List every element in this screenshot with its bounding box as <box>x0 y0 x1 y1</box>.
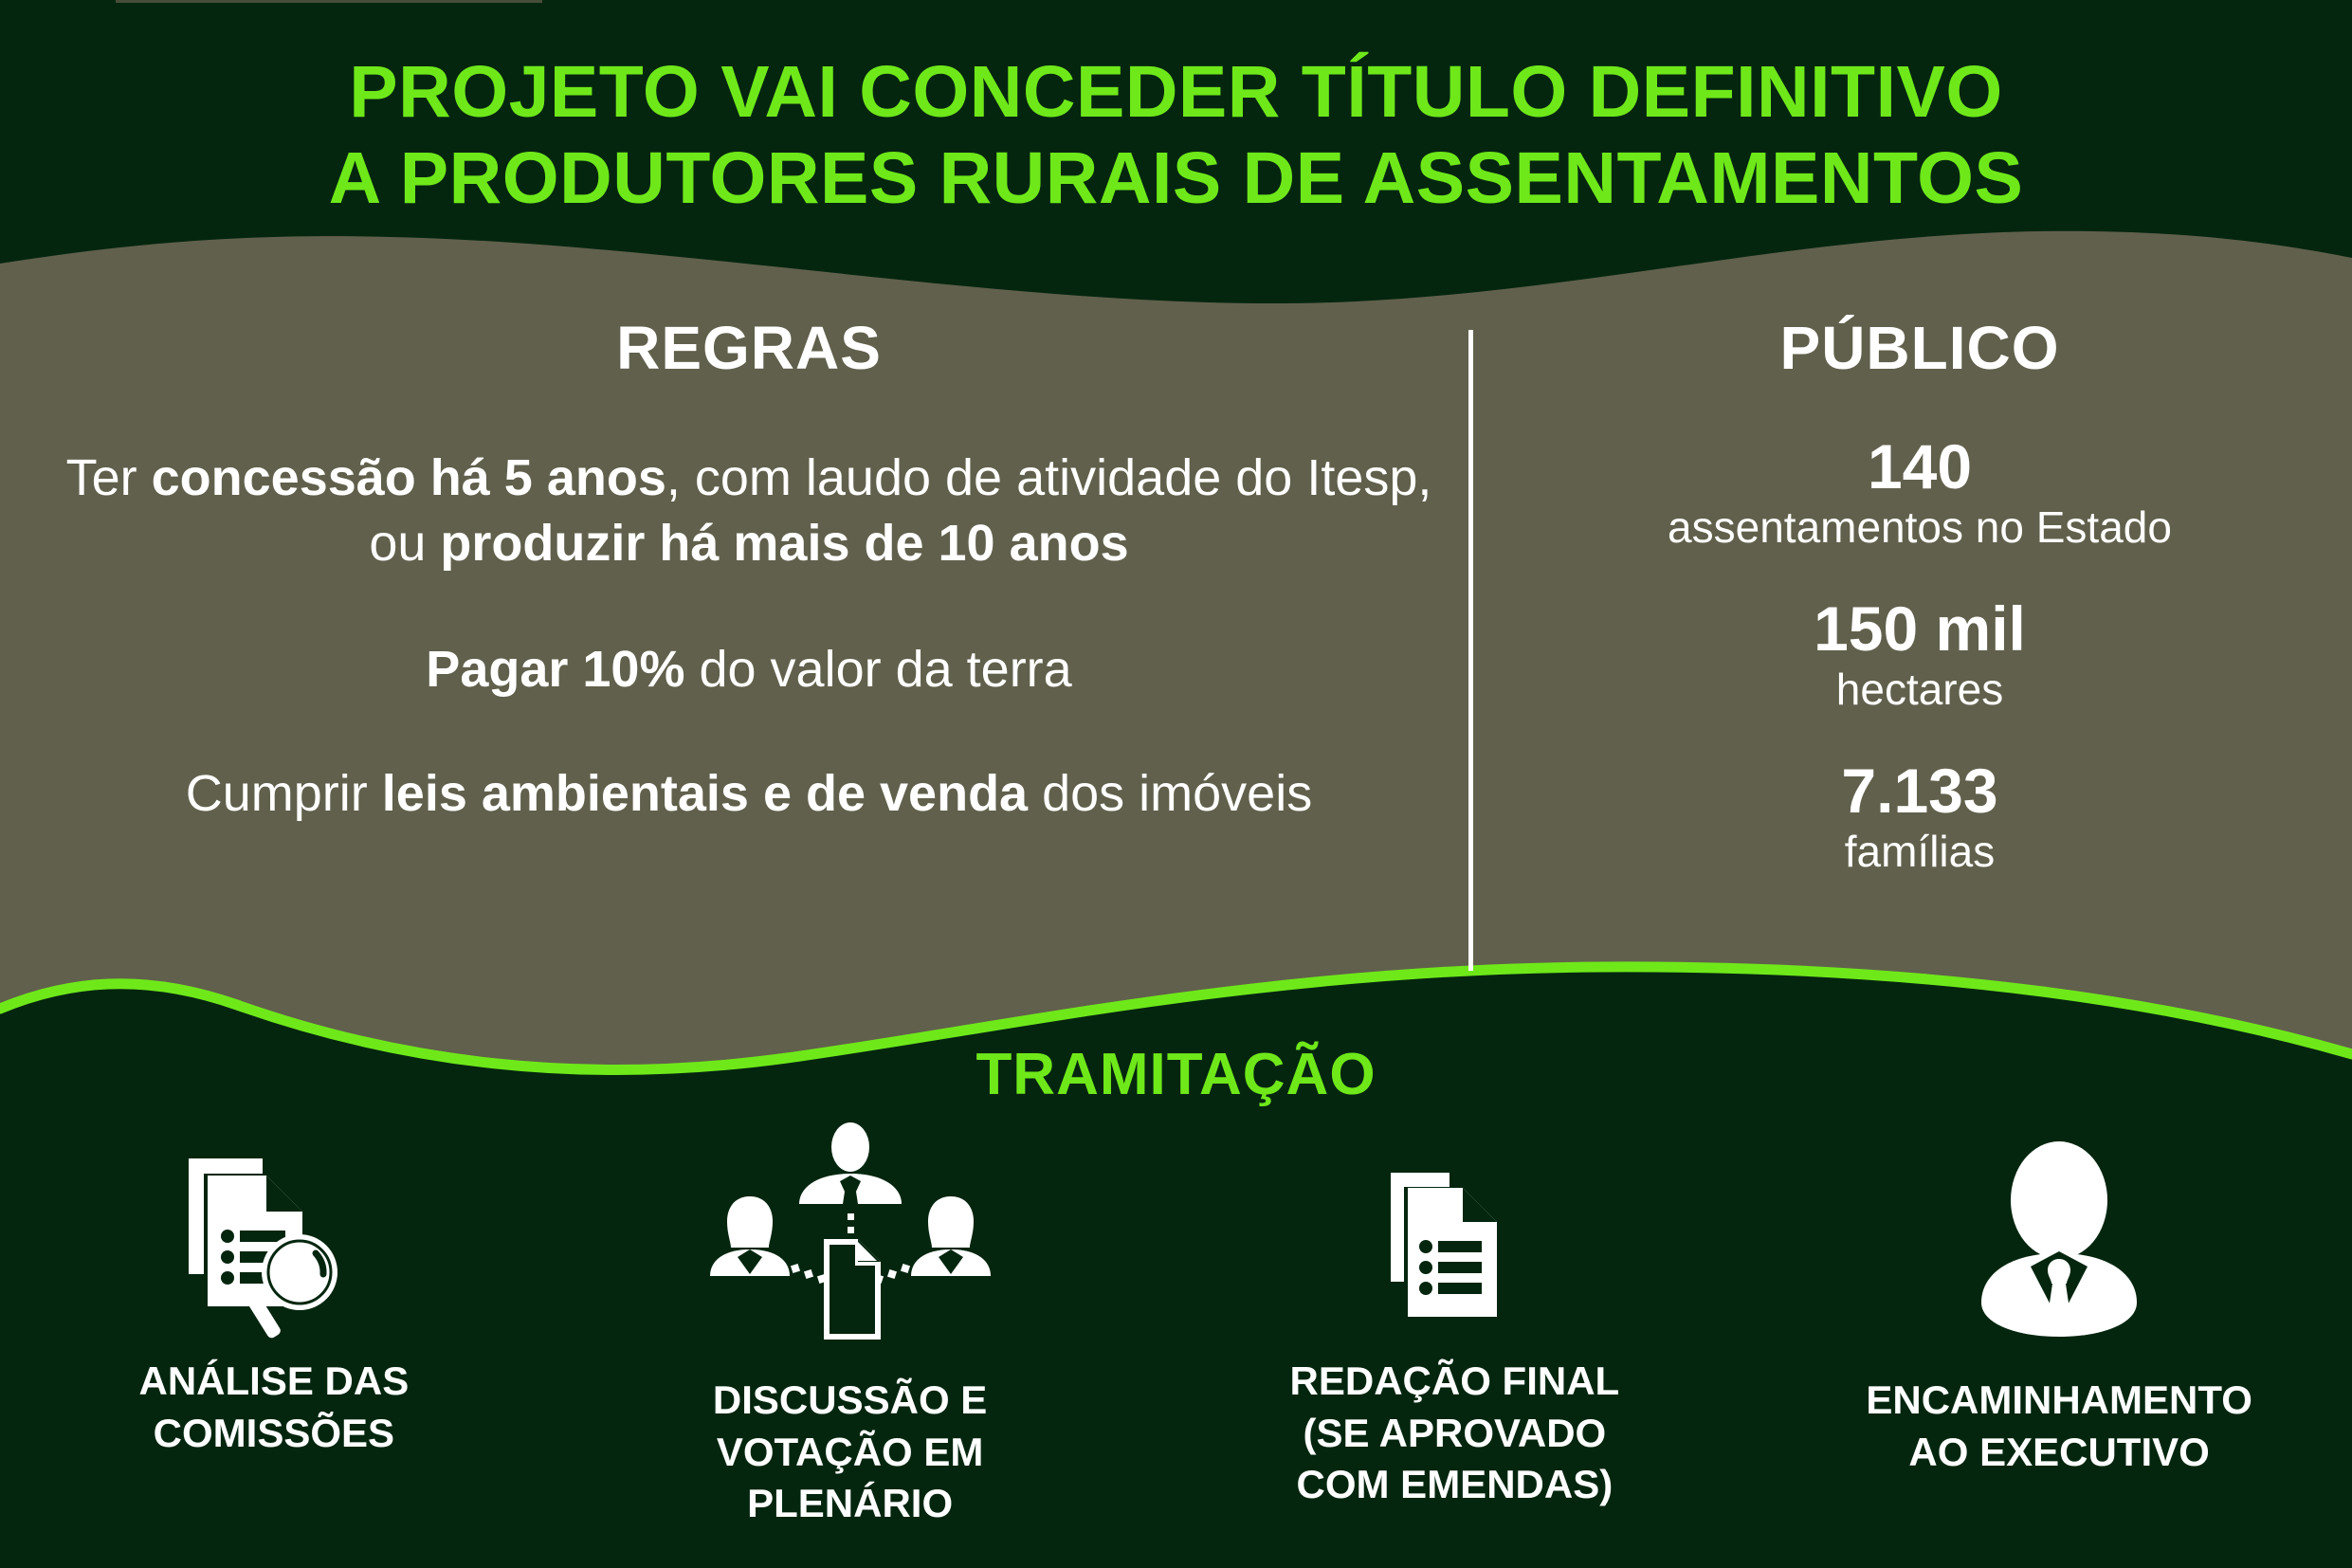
step-1-icon-wrap <box>172 1121 375 1339</box>
document-list-icon <box>1372 1163 1538 1339</box>
step-3-label: REDAÇÃO FINAL (SE APROVADO COM EMENDAS) <box>1290 1356 1620 1511</box>
regras-column: REGRAS Ter concessão há 5 anos, com laud… <box>57 313 1441 827</box>
rule-3-text-b: leis ambientais e de venda <box>382 765 1028 822</box>
rule-2-text-b: do valor da terra <box>684 641 1071 698</box>
step-1-label: ANÁLISE DAS COMISSÕES <box>139 1356 410 1459</box>
step-2-label: DISCUSSÃO E VOTAÇÃO EM PLENÁRIO <box>713 1375 987 1530</box>
main-content: REGRAS Ter concessão há 5 anos, com laud… <box>0 313 2352 976</box>
rule-3-text-c: dos imóveis <box>1028 765 1312 822</box>
center-document-icon <box>824 1239 881 1340</box>
stat-familias-value: 7.133 <box>1503 757 2337 827</box>
stat-familias-label: famílias <box>1503 827 2337 877</box>
rule-1-text-a: Ter <box>66 449 152 506</box>
stat-hectares: 150 mil hectares <box>1503 594 2337 715</box>
column-divider <box>1468 330 1473 971</box>
rule-item-2: Pagar 10% do valor da terra <box>57 637 1441 702</box>
rule-3-text-a: Cumprir <box>186 765 382 822</box>
document-magnifier-icon <box>172 1149 375 1339</box>
rule-2-text-a: Pagar 10% <box>426 641 684 698</box>
rule-item-3: Cumprir leis ambientais e de venda dos i… <box>57 761 1441 827</box>
stat-assentamentos: 140 assentamentos no Estado <box>1503 432 2337 553</box>
header: PROJETO VAI CONCEDER TÍTULO DEFINITIVO A… <box>0 49 2352 222</box>
tramitacao-heading: TRAMITAÇÃO <box>0 1041 2352 1108</box>
step-3-icon-wrap <box>1372 1121 1538 1339</box>
stat-assentamentos-value: 140 <box>1503 432 2337 502</box>
stat-familias: 7.133 famílias <box>1503 757 2337 877</box>
step-analise-comissoes: ANÁLISE DAS COMISSÕES <box>0 1121 576 1459</box>
rule-item-1: Ter concessão há 5 anos, com laudo de at… <box>57 446 1441 576</box>
infographic-canvas: PROJETO VAI CONCEDER TÍTULO DEFINITIVO A… <box>0 0 2352 1568</box>
person-left-icon <box>710 1196 790 1276</box>
regras-heading: REGRAS <box>57 313 1441 383</box>
step-4-label: ENCAMINHAMENTO AO EXECUTIVO <box>1866 1375 2252 1478</box>
step-redacao-final: REDAÇÃO FINAL (SE APROVADO COM EMENDAS) <box>1153 1121 1758 1511</box>
stat-hectares-label: hectares <box>1503 665 2337 715</box>
person-top-icon <box>799 1122 902 1204</box>
tramitacao-section: TRAMITAÇÃO <box>0 1041 2352 1568</box>
step-2-icon-wrap <box>708 1121 993 1358</box>
tramitacao-steps: ANÁLISE DAS COMISSÕES <box>0 1121 2352 1530</box>
top-edge-strip <box>116 0 542 3</box>
people-discussion-document-icon <box>708 1121 993 1358</box>
rule-1-text-b: concessão há 5 anos <box>152 449 666 506</box>
person-right-icon <box>911 1196 991 1276</box>
publico-heading: PÚBLICO <box>1503 313 2337 383</box>
step-discussao-votacao: DISCUSSÃO E VOTAÇÃO EM PLENÁRIO <box>548 1121 1153 1530</box>
page-title: PROJETO VAI CONCEDER TÍTULO DEFINITIVO A… <box>0 49 2352 222</box>
person-suit-icon <box>1964 1138 2154 1341</box>
dotted-connector-left <box>791 1264 827 1284</box>
stat-assentamentos-label: assentamentos no Estado <box>1503 502 2337 553</box>
step-4-icon-wrap <box>1964 1121 2154 1358</box>
rule-1-text-d: produzir há mais de 10 anos <box>440 515 1128 572</box>
step-encaminhamento-executivo: ENCAMINHAMENTO AO EXECUTIVO <box>1757 1121 2352 1478</box>
publico-column: PÚBLICO 140 assentamentos no Estado 150 … <box>1503 313 2337 876</box>
stat-hectares-value: 150 mil <box>1503 594 2337 665</box>
